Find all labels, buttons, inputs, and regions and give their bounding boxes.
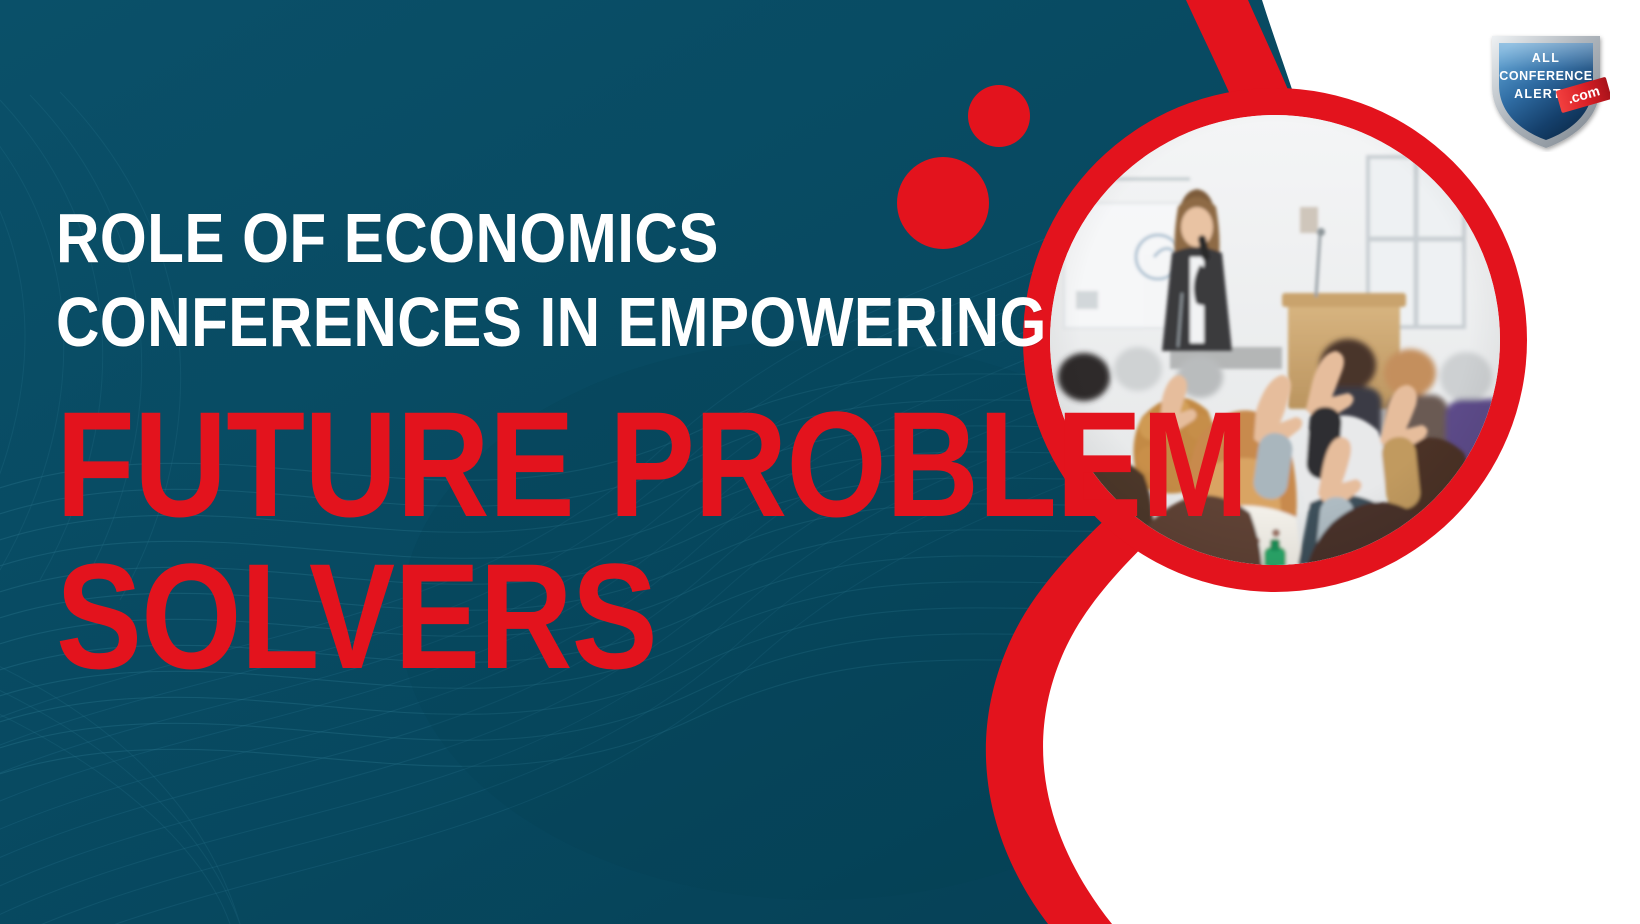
headline-red-line-1: FUTURE PROBLEM: [56, 388, 882, 540]
shield-logo-icon: ALL CONFERENCE ALERT .com: [1482, 24, 1610, 152]
banner-root: ROLE OF ECONOMICS CONFERENCES IN EMPOWER…: [0, 0, 1640, 924]
headline-block: ROLE OF ECONOMICS CONFERENCES IN EMPOWER…: [56, 196, 1016, 692]
headline-red-line-2: SOLVERS: [56, 540, 882, 692]
headline-white-line-2: CONFERENCES IN EMPOWERING: [56, 280, 882, 364]
red-dot-small: [968, 85, 1030, 147]
logo-text-all: ALL: [1532, 51, 1561, 65]
headline-white-line-1: ROLE OF ECONOMICS: [56, 196, 882, 280]
all-conference-alert-logo[interactable]: ALL CONFERENCE ALERT .com: [1482, 24, 1610, 152]
logo-text-alert: ALERT: [1514, 87, 1562, 101]
logo-text-conference: CONFERENCE: [1499, 69, 1593, 83]
headline-red-block: FUTURE PROBLEM SOLVERS: [56, 388, 1016, 692]
